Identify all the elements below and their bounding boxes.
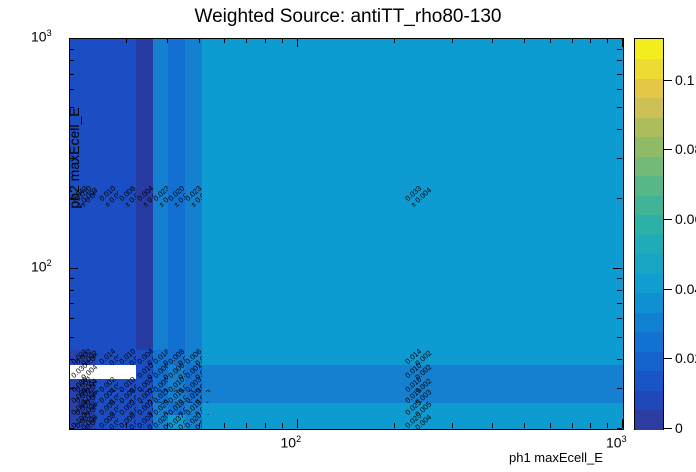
colorbar-tick [663,289,672,290]
heatmap-cell [118,350,137,365]
x-axis-tick-top [550,38,551,43]
heatmap-plot-area: 0.010± 0.0010.010± 0.0010.006± 0.0010.00… [69,38,624,430]
x-axis-tick [246,423,247,428]
colorbar-segment [635,234,663,254]
heatmap-cell [153,39,168,351]
x-axis-tick-top [590,38,591,43]
y-axis-tick [69,278,74,279]
colorbar-segment [635,293,663,313]
x-axis-tick-top [607,38,608,43]
x-axis-tick-top [297,38,298,47]
y-axis-tick-right [617,198,622,199]
x-axis-tick [297,419,298,428]
colorbar-segment [635,137,663,157]
y-axis-tick-right [617,74,622,75]
colorbar-segment [635,156,663,176]
y-axis-tick [69,60,74,61]
heatmap-cell [153,392,168,403]
colorbar-segment [635,98,663,118]
x-axis-tick-top [199,38,200,43]
y-axis-tick [69,49,74,50]
colorbar-segment [635,351,663,371]
x-axis-tick [590,423,591,428]
y-axis-tick [69,74,74,75]
colorbar-segment [635,59,663,79]
chart-canvas: Weighted Source: antiTT_rho80-130 0.010±… [0,0,696,472]
colorbar-tick-label: 0.04 [675,281,696,297]
heatmap-cell [70,392,96,403]
heatmap-cell [202,392,623,403]
y-axis-tick-right [617,337,622,338]
heatmap-cell [96,350,118,365]
heatmap-cell [185,350,203,365]
x-axis-tick [224,423,225,428]
y-axis-tick-right [617,428,622,429]
y-axis-tick [69,359,74,360]
x-axis-tick-top [246,38,247,43]
colorbar-segment [635,176,663,196]
heatmap-cells: 0.010± 0.0010.010± 0.0010.006± 0.0010.00… [70,39,623,429]
heatmap-cell [136,365,153,380]
heatmap-cell [202,365,623,380]
heatmap-cell [185,365,203,380]
heatmap-cell [118,379,137,392]
x-axis-tick-top [126,38,127,43]
x-axis-tick-label: 103 [606,434,627,451]
heatmap-cell [136,392,153,403]
heatmap-cell [202,39,623,351]
heatmap-cell [185,392,203,403]
heatmap-cell [96,403,118,416]
heatmap-cell [185,39,203,351]
x-axis-tick [282,423,283,428]
x-axis-tick [265,423,266,428]
y-axis-tick-right [617,303,622,304]
heatmap-cell [96,415,118,430]
colorbar-segment [635,410,663,430]
colorbar-tick [663,358,672,359]
y-axis-tick [69,290,74,291]
y-axis-tick-label: 102 [31,258,52,275]
colorbar-segment [635,371,663,391]
x-axis-tick-top [452,38,453,43]
heatmap-cell [168,415,185,430]
colorbar-tick-label: 0 [675,420,683,436]
x-axis-tick-top [524,38,525,43]
colorbar-segment [635,390,663,410]
heatmap-cell [136,403,153,416]
y-axis-tick-label: 103 [31,28,52,45]
colorbar-tick [663,219,672,220]
colorbar-tick [663,149,672,150]
x-axis-tick [492,423,493,428]
colorbar-segment [635,39,663,59]
x-axis-tick [167,423,168,428]
heatmap-cell [70,379,96,392]
colorbar-segment [635,117,663,137]
heatmap-cell [153,403,168,416]
heatmap-cell [168,403,185,416]
heatmap-cell [202,350,623,365]
heatmap-cell [168,350,185,365]
y-axis-tick-right [613,268,622,269]
colorbar-tick [663,428,672,429]
heatmap-cell [185,403,203,416]
y-axis-tick-right [617,89,622,90]
heatmap-cell [136,379,153,392]
y-axis-tick [69,38,78,39]
colorbar-segment [635,195,663,215]
heatmap-cell [118,365,137,380]
heatmap-cell [70,365,96,380]
colorbar-tick [663,80,672,81]
x-axis-tick-label: 102 [281,434,302,451]
colorbar-segment [635,273,663,293]
heatmap-cell [168,379,185,392]
heatmap-cell [96,39,118,351]
x-axis-tick [394,423,395,428]
heatmap-cell [118,39,137,351]
y-axis-tick [69,303,74,304]
chart-title: Weighted Source: antiTT_rho80-130 [0,6,696,28]
x-axis-tick [607,423,608,428]
y-axis-tick-right [617,129,622,130]
y-axis-tick [69,337,74,338]
heatmap-cell [168,39,185,351]
y-axis-tick-right [617,107,622,108]
heatmap-cell [185,379,203,392]
x-axis-tick [550,423,551,428]
heatmap-cell [136,350,153,365]
colorbar-segment [635,312,663,332]
colorbar-segment [635,215,663,235]
heatmap-cell [118,403,137,416]
colorbar-tick-label: 0.02 [675,350,696,366]
y-axis-tick-right [617,60,622,61]
heatmap-cell [70,403,96,416]
y-axis-tick-right [613,38,622,39]
colorbar-tick-label: 0.06 [675,211,696,227]
colorbar-tick-label: 0.08 [675,141,696,157]
x-axis-tick-top [492,38,493,43]
colorbar-segment [635,332,663,352]
y-axis-tick [69,428,74,429]
y-axis-tick-right [617,290,622,291]
heatmap-cell [202,403,623,416]
y-axis-tick [69,318,74,319]
x-axis-tick-top [265,38,266,43]
x-axis-tick-top [224,38,225,43]
x-axis-tick-top [167,38,168,43]
y-axis-tick-right [617,359,622,360]
heatmap-cell [185,415,203,430]
heatmap-cell [168,392,185,403]
x-axis-label: ph1 maxEcell_E [509,450,603,465]
heatmap-cell [168,365,185,380]
heatmap-cell [118,392,137,403]
colorbar-segment [635,78,663,98]
x-axis-tick [622,419,623,428]
heatmap-cell [202,379,623,392]
y-axis-tick [69,268,78,269]
heatmap-cell [153,379,168,392]
heatmap-cell [96,379,118,392]
y-axis-label: ph2 maxEcell_E [66,78,82,238]
x-axis-tick [199,423,200,428]
colorbar-tick-label: 0.1 [675,72,694,88]
x-axis-tick-top [622,38,623,47]
y-axis-tick-right [617,318,622,319]
y-axis-tick-right [617,158,622,159]
heatmap-cell [153,365,168,380]
y-axis-tick-right [617,278,622,279]
x-axis-tick-top [394,38,395,43]
heatmap-cell [96,365,118,380]
y-axis-tick-right [617,388,622,389]
heatmap-cell [96,392,118,403]
x-axis-tick [572,423,573,428]
y-axis-tick [69,388,74,389]
colorbar-segment [635,254,663,274]
x-axis-tick [452,423,453,428]
colorbar [634,38,664,430]
heatmap-cell [136,415,153,430]
x-axis-tick-top [282,38,283,43]
x-axis-tick [524,423,525,428]
x-axis-tick-top [572,38,573,43]
heatmap-cell [153,350,168,365]
y-axis-tick-right [617,49,622,50]
heatmap-cell [136,39,153,351]
x-axis-tick [126,423,127,428]
